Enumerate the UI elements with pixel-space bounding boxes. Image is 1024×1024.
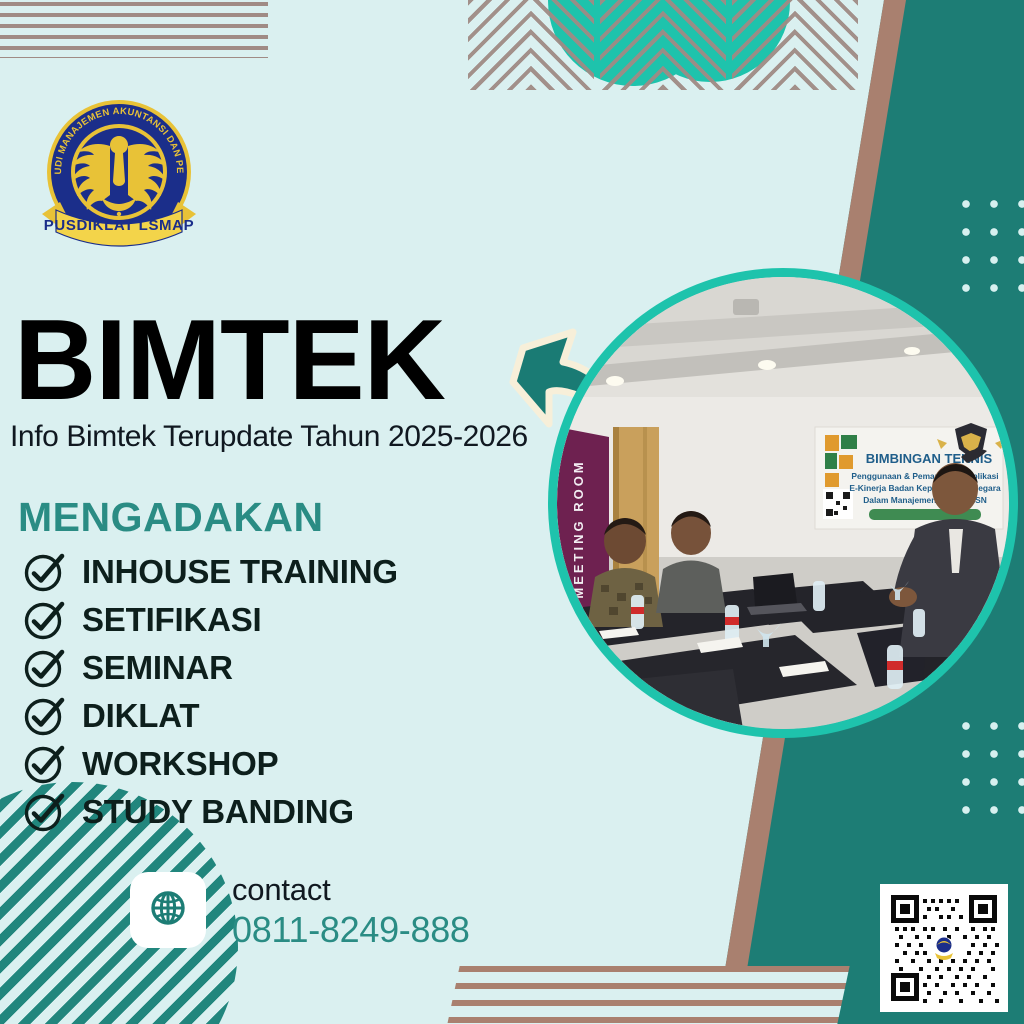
list-item: DIKLAT xyxy=(22,692,522,739)
contact-block: contact 0811-8249-888 xyxy=(232,872,470,951)
contact-phone-number[interactable]: 0811-8249-888 xyxy=(232,909,470,951)
service-label: STUDY BANDING xyxy=(82,793,354,831)
contact-icon-button[interactable] xyxy=(130,872,206,948)
top-left-stripes-decoration xyxy=(0,2,268,58)
chevron-pattern-1 xyxy=(468,0,594,90)
check-circle-icon xyxy=(22,790,68,834)
list-item: WORKSHOP xyxy=(22,740,522,787)
service-label: SETIFIKASI xyxy=(82,601,262,639)
service-label: WORKSHOP xyxy=(82,745,278,783)
list-item: STUDY BANDING xyxy=(22,788,522,835)
services-list: INHOUSE TRAINING SETIFIKASI SEMINAR xyxy=(22,548,522,836)
check-circle-icon xyxy=(22,550,68,594)
chevron-pattern-3 xyxy=(732,0,858,90)
qr-code-icon[interactable] xyxy=(880,884,1008,1012)
training-photo: MEETING ROOM xyxy=(548,268,1018,738)
list-item: SETIFIKASI xyxy=(22,596,522,643)
check-circle-icon xyxy=(22,694,68,738)
service-label: INHOUSE TRAINING xyxy=(82,553,398,591)
service-label: DIKLAT xyxy=(82,697,199,735)
poster-canvas: LEMBAGA STUDI MANAJEMEN AKUNTANSI DAN PE… xyxy=(0,0,1024,1024)
services-heading: MENGADAKAN xyxy=(18,494,324,541)
globe-icon xyxy=(146,886,190,935)
bottom-slanted-stripes xyxy=(444,966,849,1024)
dot-grid-lower xyxy=(952,712,1024,834)
list-item: SEMINAR xyxy=(22,644,522,691)
check-circle-icon xyxy=(22,646,68,690)
svg-text:E-Kinerja Badan Kepegawaian Ne: E-Kinerja Badan Kepegawaian Negara xyxy=(849,483,1001,493)
service-label: SEMINAR xyxy=(82,649,233,687)
meeting-room-sign: MEETING ROOM xyxy=(571,459,586,598)
page-subtitle: Info Bimtek Terupdate Tahun 2025-2026 xyxy=(10,420,528,454)
check-circle-icon xyxy=(22,598,68,642)
page-title: BIMTEK xyxy=(14,304,445,418)
svg-text:MEETING ROOM: MEETING ROOM xyxy=(571,459,586,598)
list-item: INHOUSE TRAINING xyxy=(22,548,522,595)
check-circle-icon xyxy=(22,742,68,786)
lsmap-logo: LEMBAGA STUDI MANAJEMEN AKUNTANSI DAN PE… xyxy=(26,88,212,256)
contact-label: contact xyxy=(232,872,470,909)
dot-grid-upper xyxy=(952,190,1024,310)
svg-text:PUSDIKLAT LSMAP: PUSDIKLAT LSMAP xyxy=(44,217,194,234)
chevron-pattern-2 xyxy=(600,0,726,90)
event-banner: BIMBINGAN TEKNIS Penggunaan & Pemanfaata… xyxy=(815,423,1005,529)
